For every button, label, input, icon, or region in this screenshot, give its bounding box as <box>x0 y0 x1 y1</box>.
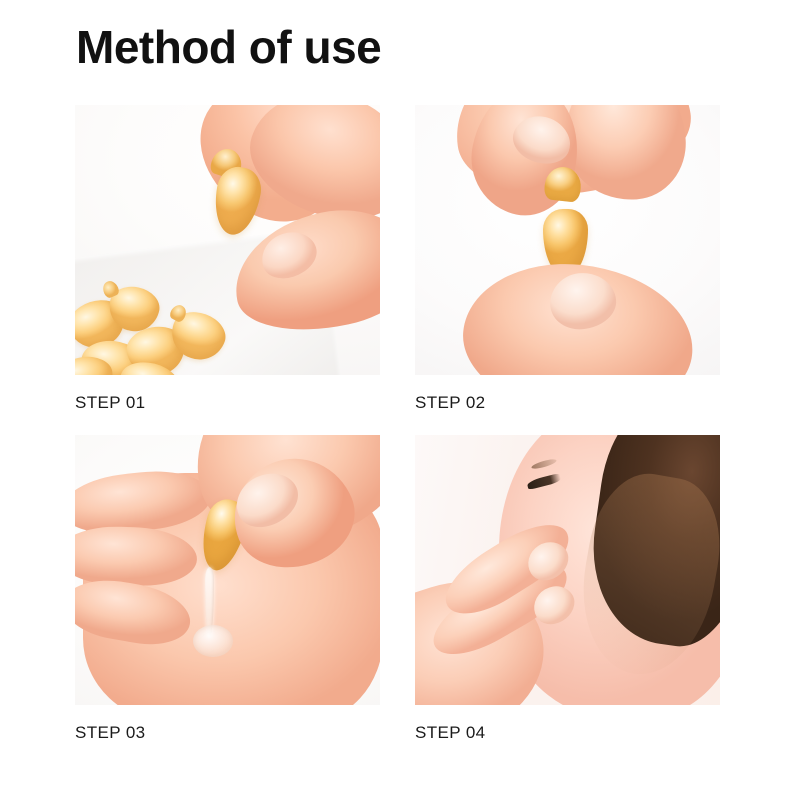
step-label-02: STEP 02 <box>415 393 720 413</box>
steps-grid: STEP 01 STEP 02 <box>75 105 725 743</box>
step-cell-04: STEP 04 <box>415 435 720 743</box>
step-cell-01: STEP 01 <box>75 105 380 413</box>
step-photo-02 <box>415 105 720 375</box>
step-photo-04 <box>415 435 720 705</box>
step-photo-01 <box>75 105 380 375</box>
page-title: Method of use <box>76 22 381 73</box>
serum-pool <box>193 625 233 657</box>
step-label-04: STEP 04 <box>415 723 720 743</box>
step-cell-02: STEP 02 <box>415 105 720 413</box>
method-of-use-page: Method of use <box>0 0 800 800</box>
step-label-03: STEP 03 <box>75 723 380 743</box>
step-label-01: STEP 01 <box>75 393 380 413</box>
step-photo-03 <box>75 435 380 705</box>
step-cell-03: STEP 03 <box>75 435 380 743</box>
